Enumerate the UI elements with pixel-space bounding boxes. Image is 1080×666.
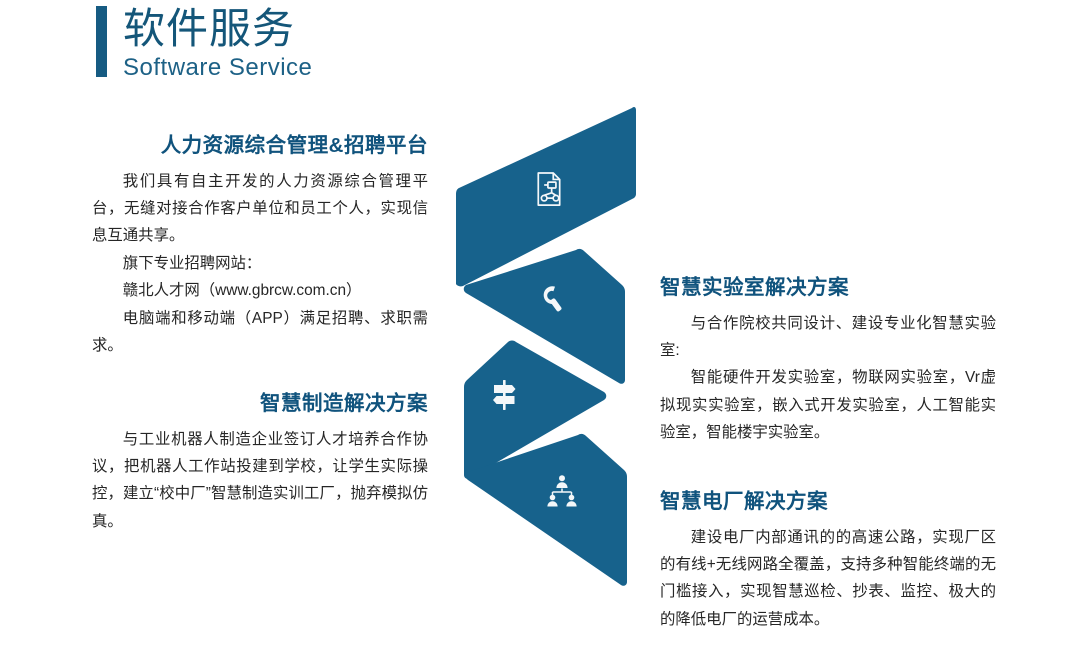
zigzag-ribbon-graphic [430, 90, 660, 610]
block-body-hr-platform: 我们具有自主开发的人力资源综合管理平台，无缝对接合作客户单位和员工个人，实现信息… [92, 168, 428, 360]
paragraph: 与合作院校共同设计、建设专业化智慧实验室: [660, 310, 996, 365]
block-body-smart-power-plant: 建设电厂内部通讯的的高速公路，实现厂区的有线+无线网路全覆盖，支持多种智能终端的… [660, 524, 996, 634]
content-block-smart-lab: 智慧实验室解决方案 与合作院校共同设计、建设专业化智慧实验室: 智能硬件开发实验… [660, 276, 996, 447]
block-body-smart-manufacturing: 与工业机器人制造企业签订人才培养合作协议，把机器人工作站投建到学校，让学生实际操… [92, 426, 428, 536]
page-header: 软件服务 Software Service [96, 6, 312, 80]
content-block-smart-manufacturing: 智慧制造解决方案 与工业机器人制造企业签订人才培养合作协议，把机器人工作站投建到… [92, 392, 428, 535]
header-accent-bar [96, 6, 107, 77]
header-text-group: 软件服务 Software Service [123, 6, 312, 80]
block-title-smart-manufacturing: 智慧制造解决方案 [92, 392, 428, 417]
paragraph: 与工业机器人制造企业签订人才培养合作协议，把机器人工作站投建到学校，让学生实际操… [92, 426, 428, 536]
block-title-hr-platform: 人力资源综合管理&招聘平台 [92, 134, 428, 159]
paragraph: 电脑端和移动端（APP）满足招聘、求职需求。 [92, 305, 428, 360]
block-body-smart-lab: 与合作院校共同设计、建设专业化智慧实验室: 智能硬件开发实验室，物联网实验室，V… [660, 310, 996, 447]
paragraph: 智能硬件开发实验室，物联网实验室，Vr虚拟现实实验室，嵌入式开发实验室，人工智能… [660, 364, 996, 446]
block-title-smart-lab: 智慧实验室解决方案 [660, 276, 996, 301]
paragraph: 赣北人才网（www.gbrcw.com.cn） [92, 277, 428, 304]
page-title-cn: 软件服务 [123, 8, 312, 50]
paragraph: 我们具有自主开发的人力资源综合管理平台，无缝对接合作客户单位和员工个人，实现信息… [92, 168, 428, 250]
content-block-hr-platform: 人力资源综合管理&招聘平台 我们具有自主开发的人力资源综合管理平台，无缝对接合作… [92, 134, 428, 360]
content-block-smart-power-plant: 智慧电厂解决方案 建设电厂内部通讯的的高速公路，实现厂区的有线+无线网路全覆盖，… [660, 490, 996, 633]
block-title-smart-power-plant: 智慧电厂解决方案 [660, 490, 996, 515]
paragraph: 旗下专业招聘网站： [92, 250, 428, 277]
page-title-en: Software Service [123, 56, 312, 80]
paragraph: 建设电厂内部通讯的的高速公路，实现厂区的有线+无线网路全覆盖，支持多种智能终端的… [660, 524, 996, 634]
